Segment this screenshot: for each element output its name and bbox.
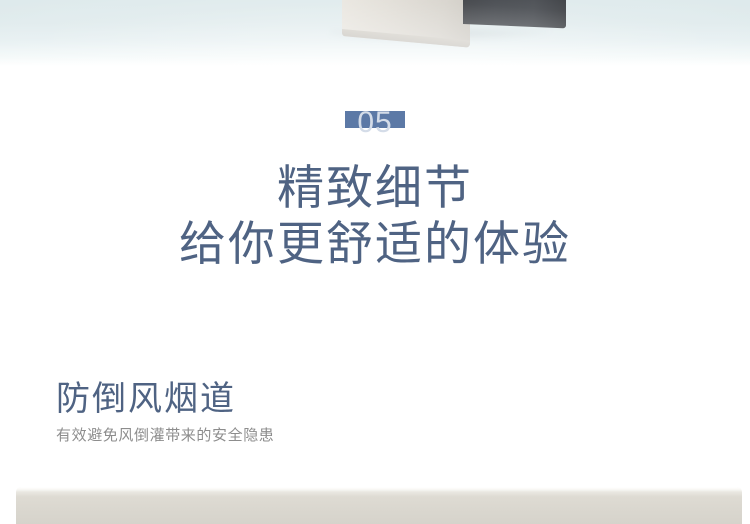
feature-description: 有效避免风倒灌带来的安全隐患 xyxy=(56,426,274,446)
section-number-label: 05 xyxy=(345,108,405,138)
feature-block: 防倒风烟道 有效避免风倒灌带来的安全隐患 xyxy=(56,379,274,446)
section-heading: 精致细节 给你更舒适的体验 xyxy=(0,160,750,272)
hero-product-image-band xyxy=(0,0,750,66)
feature-title: 防倒风烟道 xyxy=(56,379,274,419)
product-detail-page: 05 精致细节 给你更舒适的体验 防倒风烟道 有效避免风倒灌带来的安全隐患 xyxy=(0,0,750,524)
appliance-dark-panel xyxy=(463,0,566,28)
range-hood-bottom-image xyxy=(342,0,570,36)
section-number-badge-wrapper: 05 xyxy=(0,111,750,129)
section-number-badge: 05 xyxy=(345,111,405,128)
countertop-surface-bar xyxy=(16,487,742,524)
countertop-surface-highlight xyxy=(16,487,742,492)
section-heading-line-2: 给你更舒适的体验 xyxy=(0,216,750,272)
section-heading-line-1: 精致细节 xyxy=(0,160,750,216)
